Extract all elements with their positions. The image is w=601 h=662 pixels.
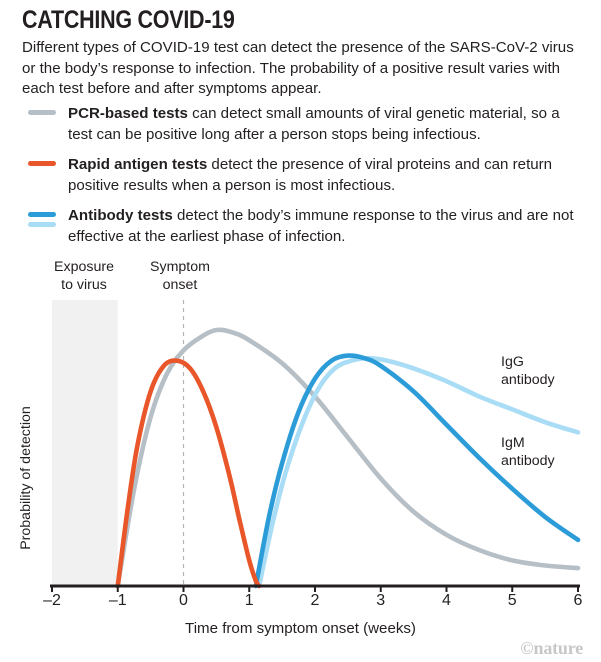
- annotation-igm: IgM antibody: [501, 435, 555, 470]
- exposure-shaded-band: [52, 300, 118, 586]
- x-tick-label: –2: [32, 592, 72, 610]
- legend-swatch-group-pcr: [28, 110, 58, 120]
- nature-credit: ©nature: [520, 638, 583, 659]
- infographic-root: CATCHING COVID-19 Different types of COV…: [0, 0, 601, 662]
- annotation-igg: IgG antibody: [501, 354, 555, 389]
- legend-swatch-pcr: [28, 110, 56, 115]
- legend-label-pcr: PCR-based tests: [68, 105, 188, 122]
- legend-swatch-antigen: [28, 161, 56, 166]
- annotation-igm-line1: IgM: [501, 435, 555, 453]
- legend-swatch-igm: [28, 212, 56, 217]
- annotation-igm-line2: antibody: [501, 453, 555, 471]
- legend-swatch-group-antigen: [28, 161, 58, 171]
- curve-igm: [256, 356, 578, 586]
- x-tick-label: 1: [229, 592, 269, 610]
- annotation-igg-line1: IgG: [501, 354, 555, 372]
- legend-text-antibody: Antibody tests detect the body’s immune …: [68, 206, 587, 247]
- x-tick-label: –1: [98, 592, 138, 610]
- annotation-exposure-line2: to virus: [36, 277, 132, 295]
- annotation-exposure: Exposure to virus: [36, 259, 132, 294]
- x-tick-label: 0: [164, 592, 204, 610]
- x-tick-label: 3: [361, 592, 401, 610]
- legend-item-antigen: Rapid antigen tests detect the presence …: [22, 155, 587, 196]
- x-tick-label: 6: [558, 592, 598, 610]
- annotation-exposure-line1: Exposure: [36, 259, 132, 277]
- annotation-symptom-onset: Symptom onset: [128, 259, 232, 294]
- chart-area: Exposure to virus Symptom onset IgG anti…: [0, 248, 601, 662]
- page-title: CATCHING COVID-19: [22, 6, 235, 34]
- legend-item-antibody: Antibody tests detect the body’s immune …: [22, 206, 587, 247]
- annotation-symptom-line1: Symptom: [128, 259, 232, 277]
- annotation-symptom-line2: onset: [128, 277, 232, 295]
- legend-label-antigen: Rapid antigen tests: [68, 156, 207, 173]
- legend-swatch-group-antibody: [28, 212, 58, 232]
- legend-text-antigen: Rapid antigen tests detect the presence …: [68, 155, 587, 196]
- legend-item-pcr: PCR-based tests can detect small amounts…: [22, 104, 587, 145]
- legend-text-pcr: PCR-based tests can detect small amounts…: [68, 104, 587, 145]
- legend-label-antibody: Antibody tests: [68, 207, 173, 224]
- legend-swatch-igg: [28, 222, 56, 227]
- x-tick-label: 5: [492, 592, 532, 610]
- x-tick-label: 2: [295, 592, 335, 610]
- x-tick-label: 4: [427, 592, 467, 610]
- x-axis-label: Time from symptom onset (weeks): [0, 620, 601, 637]
- y-axis-label: Probability of detection: [18, 368, 34, 588]
- legend: PCR-based tests can detect small amounts…: [22, 104, 587, 257]
- standfirst-text: Different types of COVID-19 test can det…: [22, 38, 582, 100]
- annotation-igg-line2: antibody: [501, 372, 555, 390]
